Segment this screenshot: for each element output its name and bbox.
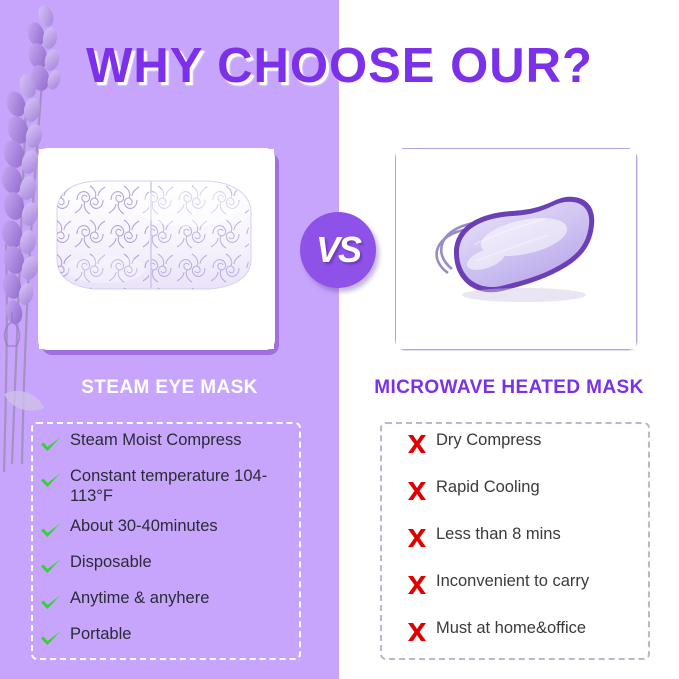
microwave-heated-mask-image — [396, 149, 636, 349]
list-item: Rapid Cooling — [404, 477, 660, 503]
list-item-label: Constant temperature 104-113°F — [70, 466, 306, 506]
list-item-label: Rapid Cooling — [436, 477, 540, 497]
check-icon — [38, 626, 64, 650]
cross-icon — [404, 526, 430, 550]
list-item-label: Steam Moist Compress — [70, 430, 241, 450]
list-item: Anytime & anyhere — [38, 588, 306, 614]
page-title: WHY CHOOSE OUR? — [0, 38, 679, 94]
right-product-card — [395, 148, 637, 350]
check-icon — [38, 518, 64, 542]
list-item: Portable — [38, 624, 306, 650]
right-feature-list: Dry Compress Rapid Cooling Less than 8 m… — [404, 430, 660, 665]
right-product-caption: MICROWAVE HEATED MASK — [339, 377, 679, 399]
list-item-label: Portable — [70, 624, 131, 644]
cross-icon — [404, 573, 430, 597]
list-item: Constant temperature 104-113°F — [38, 466, 306, 506]
list-item-label: Must at home&office — [436, 618, 586, 638]
comparison-infographic: WHY CHOOSE OUR? — [0, 0, 679, 679]
list-item: Disposable — [38, 552, 306, 578]
check-icon — [38, 554, 64, 578]
cross-icon — [404, 620, 430, 644]
left-product-card — [38, 148, 275, 350]
list-item: About 30-40minutes — [38, 516, 306, 542]
check-icon — [38, 432, 64, 456]
cross-icon — [404, 432, 430, 456]
vs-badge: VS — [300, 212, 376, 288]
left-product-caption: STEAM EYE MASK — [0, 377, 339, 399]
list-item-label: Anytime & anyhere — [70, 588, 209, 608]
list-item-label: Disposable — [70, 552, 152, 572]
vs-badge-label: VS — [316, 229, 360, 271]
check-icon — [38, 468, 64, 492]
list-item: Steam Moist Compress — [38, 430, 306, 456]
cross-icon — [404, 479, 430, 503]
left-feature-list: Steam Moist Compress Constant temperatur… — [38, 430, 306, 660]
list-item: Less than 8 mins — [404, 524, 660, 550]
check-icon — [38, 590, 64, 614]
list-item-label: Inconvenient to carry — [436, 571, 589, 591]
list-item: Dry Compress — [404, 430, 660, 456]
list-item: Inconvenient to carry — [404, 571, 660, 597]
list-item-label: Less than 8 mins — [436, 524, 561, 544]
list-item-label: About 30-40minutes — [70, 516, 218, 536]
list-item-label: Dry Compress — [436, 430, 541, 450]
list-item: Must at home&office — [404, 618, 660, 644]
steam-eye-mask-image — [39, 149, 274, 349]
